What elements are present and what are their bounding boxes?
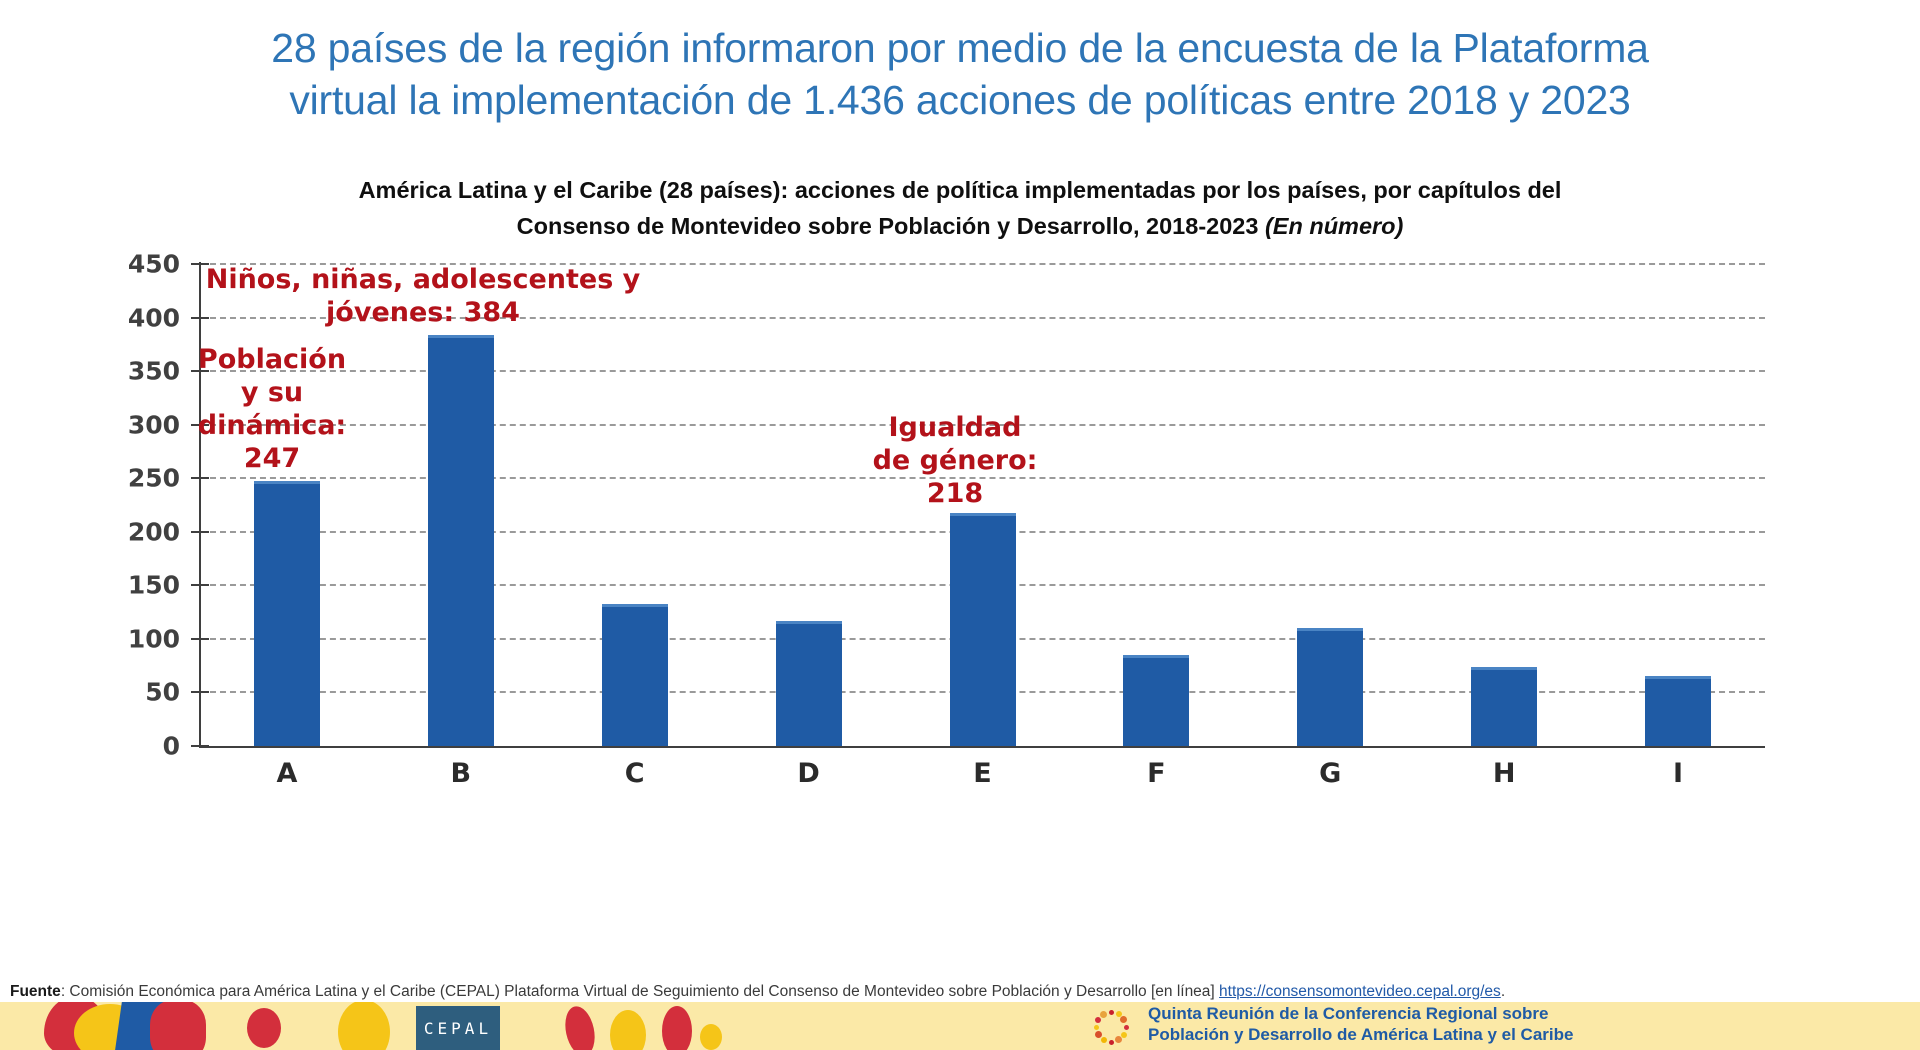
y-tick-label: 350 [110, 357, 180, 386]
y-tick-label: 200 [110, 517, 180, 546]
source-note: Fuente: Comisión Económica para América … [10, 983, 1910, 1001]
conference-title: Quinta Reunión de la Conferencia Regiona… [1148, 1004, 1573, 1045]
x-tick-label-H: H [1493, 758, 1516, 789]
annotation-igualdad-genero: Igualdadde género:218 [840, 412, 1070, 511]
annotation-line: dinámica: [172, 410, 372, 443]
emblem-dot-icon [1095, 1017, 1101, 1023]
conference-title-line-2: Población y Desarrollo de América Latina… [1148, 1025, 1573, 1046]
bar-G [1297, 628, 1363, 746]
bar-D [776, 621, 842, 746]
annotation-line: 218 [840, 478, 1070, 511]
slide-title-line-1: 28 países de la región informaron por me… [90, 22, 1830, 74]
emblem-dot-icon [1100, 1011, 1107, 1018]
emblem-dot-icon [1115, 1036, 1122, 1043]
emblem-dot-icon [1120, 1016, 1127, 1023]
x-tick-label-G: G [1319, 758, 1341, 789]
source-link[interactable]: https://consensomontevideo.cepal.org/es [1219, 983, 1501, 1000]
annotation-poblacion-dinamica: Poblacióny sudinámica:247 [172, 344, 372, 476]
source-text: : Comisión Económica para América Latina… [61, 983, 1219, 1000]
y-tick-label: 450 [110, 250, 180, 279]
bar-I [1645, 676, 1711, 746]
annotation-line: de género: [840, 445, 1070, 478]
x-axis-line [199, 746, 1765, 748]
annotation-line: y su [172, 377, 372, 410]
x-tick-label-D: D [797, 758, 819, 789]
chart-title-units: (En número) [1265, 213, 1403, 239]
emblem-dot-icon [1124, 1025, 1129, 1030]
bar-H [1471, 667, 1537, 746]
decor-shape-icon [247, 1008, 281, 1048]
bar-F [1123, 655, 1189, 746]
annotation-line: 247 [172, 443, 372, 476]
decor-shape-icon [561, 1004, 599, 1050]
emblem-dot-icon [1094, 1025, 1099, 1030]
decor-shape-icon [150, 1002, 206, 1050]
y-tick-label: 150 [110, 571, 180, 600]
decor-shape-icon [700, 1024, 722, 1050]
cepal-logo-text: CEPAL [424, 1019, 492, 1038]
cepal-logo: CEPAL [416, 1006, 500, 1050]
x-tick-label-I: I [1673, 758, 1683, 789]
emblem-dot-icon [1095, 1031, 1102, 1038]
chart-title-line-1: América Latina y el Caribe (28 países): … [140, 172, 1780, 208]
x-tick-label-C: C [625, 758, 645, 789]
annotation-line: Niños, niñas, adolescentes y [188, 264, 658, 297]
conference-emblem-icon [1090, 1006, 1136, 1050]
annotation-line: jóvenes: 384 [188, 297, 658, 330]
emblem-dot-icon [1109, 1010, 1114, 1015]
annotation-line: Población [172, 344, 372, 377]
y-tick-label: 250 [110, 464, 180, 493]
slide-title-line-2: virtual la implementación de 1.436 accio… [90, 74, 1830, 126]
chart-title: América Latina y el Caribe (28 países): … [140, 172, 1780, 245]
slide-title: 28 países de la región informaron por me… [90, 22, 1830, 127]
source-suffix: . [1501, 983, 1505, 1000]
chart-title-line-2-text: Consenso de Montevideo sobre Población y… [517, 213, 1265, 239]
annotation-line: Igualdad [840, 412, 1070, 445]
chart-title-line-2: Consenso de Montevideo sobre Población y… [140, 208, 1780, 244]
emblem-dot-icon [1101, 1037, 1107, 1043]
decor-shape-icon [662, 1006, 692, 1050]
decor-shape-icon [610, 1010, 646, 1050]
bar-E [950, 513, 1016, 747]
x-tick-label-A: A [276, 758, 297, 789]
x-tick-label-E: E [973, 758, 991, 789]
bar-C [602, 604, 668, 746]
y-tick-label: 0 [110, 732, 180, 761]
bar-chart: 050100150200250300350400450 ABCDEFGHI Ni… [0, 252, 1790, 792]
annotation-ninos-adolescentes-jovenes: Niños, niñas, adolescentes yjóvenes: 384 [188, 264, 658, 330]
emblem-dot-icon [1109, 1040, 1114, 1045]
source-label: Fuente [10, 983, 61, 1000]
y-tick-label: 100 [110, 624, 180, 653]
bar-B [428, 335, 494, 746]
y-tick-label: 400 [110, 303, 180, 332]
decor-shape-icon [338, 1002, 390, 1050]
conference-title-line-1: Quinta Reunión de la Conferencia Regiona… [1148, 1004, 1573, 1025]
x-tick-label-F: F [1147, 758, 1165, 789]
bar-A [254, 481, 320, 746]
x-tick-label-B: B [451, 758, 472, 789]
emblem-dot-icon [1121, 1032, 1127, 1038]
footer-band: CEPAL Quinta Reunión de la Conferencia R… [0, 1002, 1920, 1050]
y-tick-label: 300 [110, 410, 180, 439]
y-tick-label: 50 [110, 678, 180, 707]
